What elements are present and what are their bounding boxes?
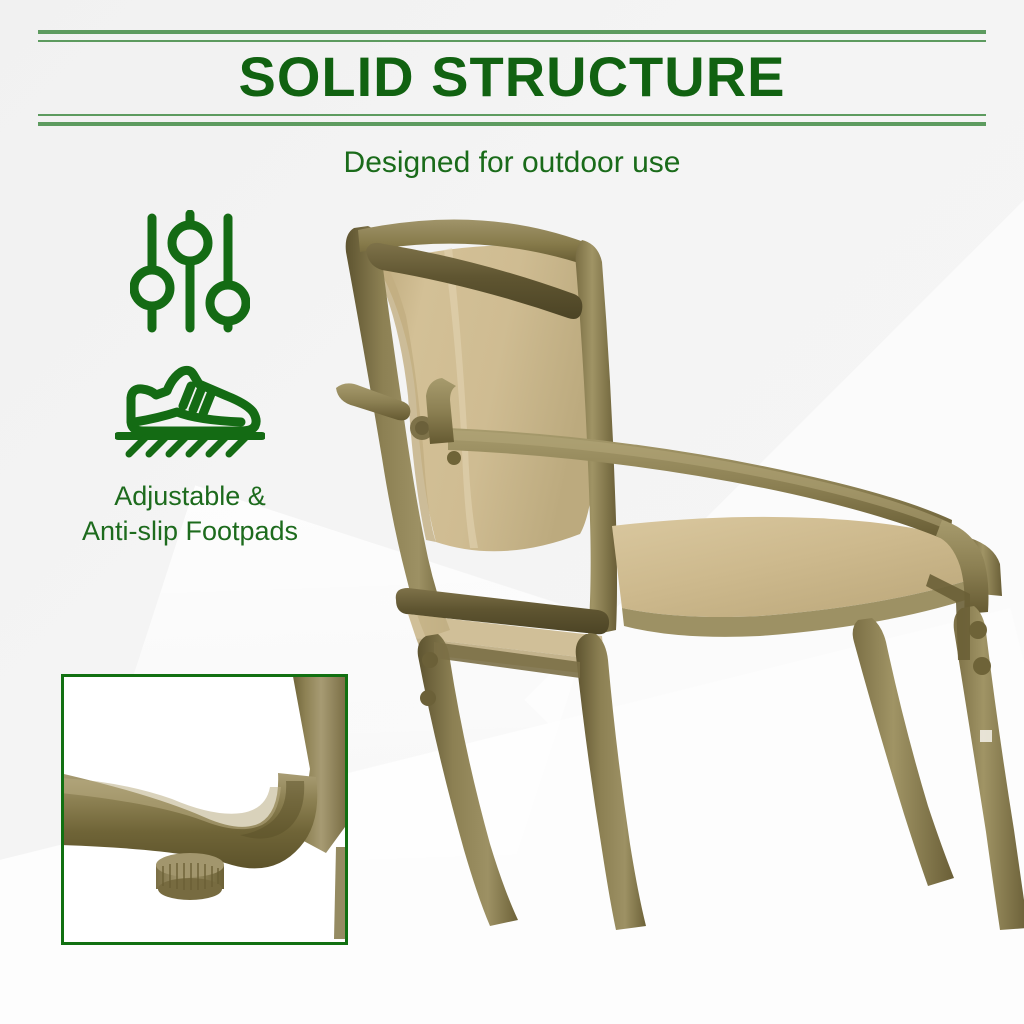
header-divider-top — [38, 30, 986, 42]
divider-line-thin — [38, 40, 986, 42]
divider-line-thick — [38, 122, 986, 126]
feature-label-footpads: Adjustable & Anti-slip Footpads — [40, 479, 340, 548]
header-divider-bottom — [38, 114, 986, 126]
product-feature-banner: SOLID STRUCTURE Designed for outdoor use — [0, 0, 1024, 1024]
page-subtitle: Designed for outdoor use — [0, 146, 1024, 180]
footpad-closeup-inset — [61, 674, 348, 945]
leg-center-front — [576, 634, 646, 930]
adjustable-footpad — [156, 853, 224, 900]
adjustable-sliders-icon — [40, 210, 340, 340]
anti-slip-shoe-icon — [40, 360, 340, 463]
outdoor-stacking-chair-image — [330, 190, 1024, 930]
page-title: SOLID STRUCTURE — [0, 49, 1024, 105]
footpad-closeup-image — [64, 677, 345, 942]
leg-front-left — [418, 634, 518, 926]
leg-front-right — [853, 618, 954, 886]
feature-list: Adjustable & Anti-slip Footpads — [40, 200, 340, 548]
